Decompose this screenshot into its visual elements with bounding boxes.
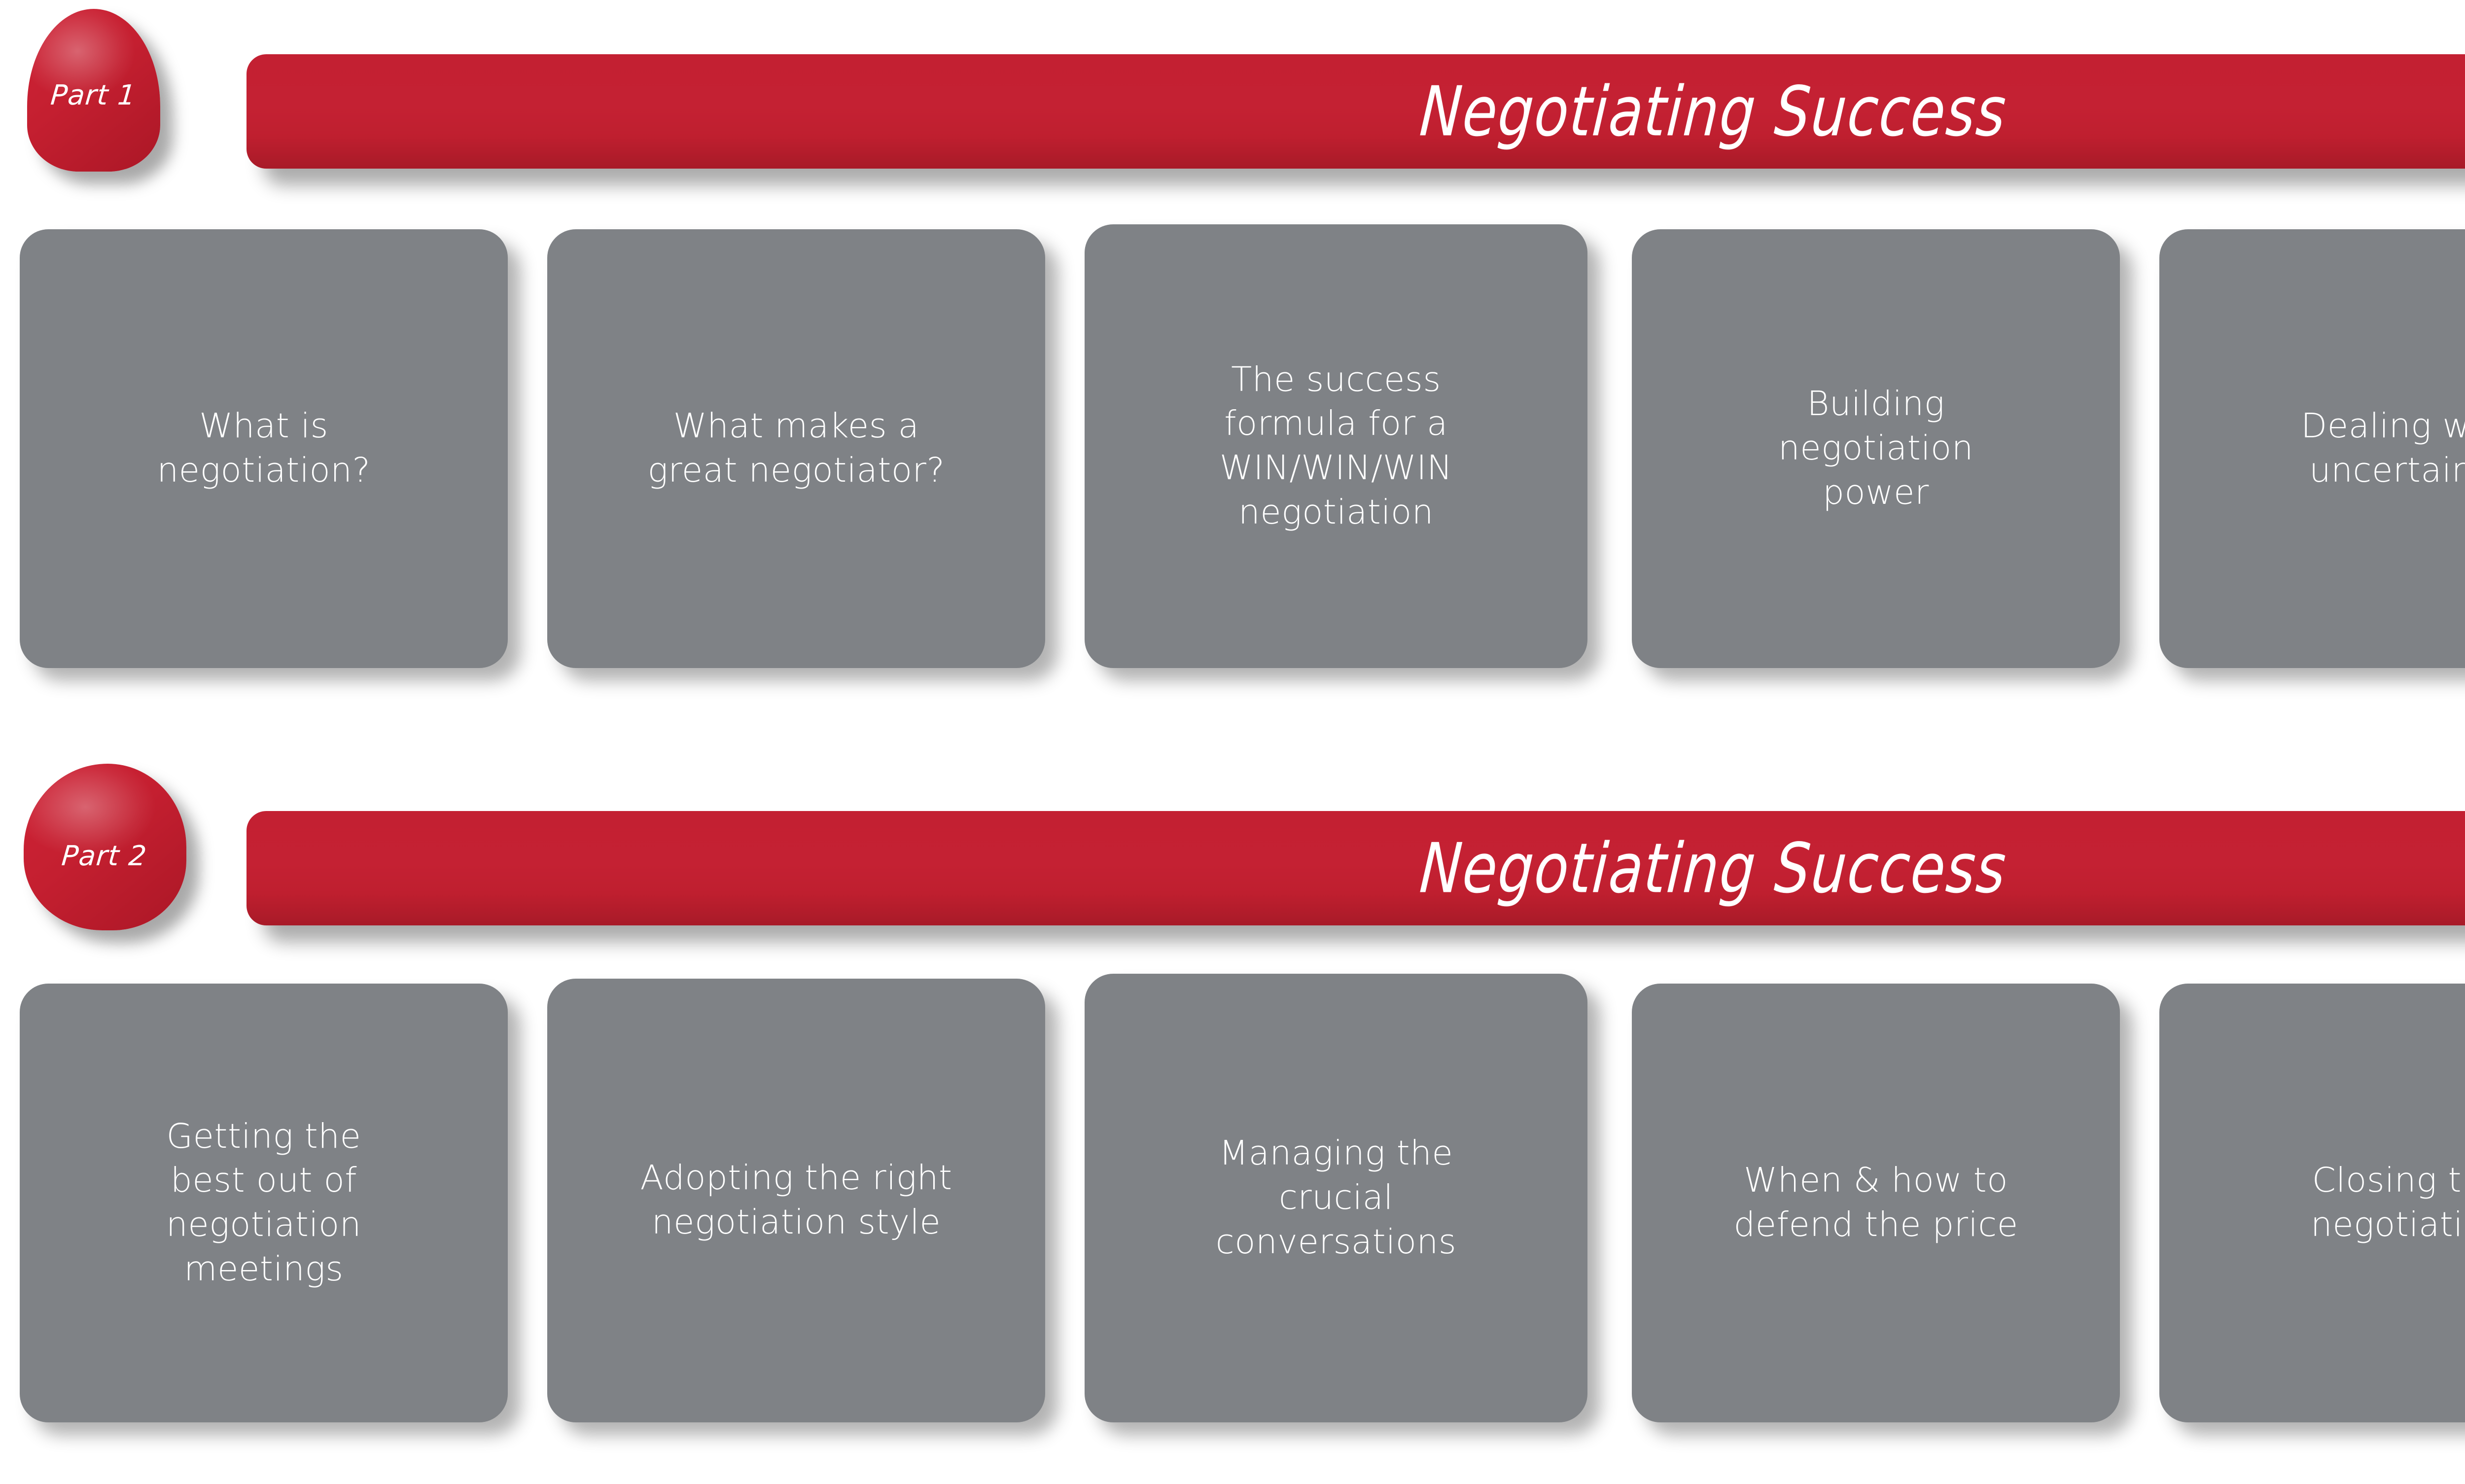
topic-card-label: Dealing with uncertainty [2288,404,2465,493]
topic-card[interactable]: Adopting the right negotiation style [547,979,1045,1422]
banner-title-text: Negotiating Success [1417,828,2009,909]
section-part-2: Negotiating Success Part 2 Getting the b… [0,757,2465,1484]
topic-card[interactable]: When & how to defend the price [1632,984,2120,1422]
topic-card[interactable]: Getting the best out of negotiation meet… [20,984,508,1422]
part-badge-label: Part 2 [16,773,193,939]
topic-card-label: What makes a great negotiator? [634,404,957,493]
part-badge-label: Part 1 [20,14,167,177]
topic-card-label: The success formula for a WIN/WIN/WIN ne… [1207,358,1466,535]
topic-card-row: What is negotiation? What makes a great … [0,229,2465,678]
topic-card[interactable]: Closing the negotiation [2159,984,2465,1422]
part-badge: Part 1 [27,9,160,172]
topic-card[interactable]: The success formula for a WIN/WIN/WIN ne… [1085,224,1587,668]
topic-card[interactable]: What makes a great negotiator? [547,229,1045,668]
topic-card-label: What is negotiation? [144,404,383,493]
topic-card-label: Adopting the right negotiation style [628,1156,965,1244]
slide-canvas: Negotiating Success Part 1 What is negot… [0,0,2465,1484]
banner-part-1: Negotiating Success Part 1 [0,0,2465,197]
topic-card-label: Managing the crucial conversations [1203,1131,1469,1264]
topic-card[interactable]: Dealing with uncertainty [2159,229,2465,668]
topic-card[interactable]: Managing the crucial conversations [1085,974,1587,1422]
topic-card-label: Getting the best out of negotiation meet… [153,1115,374,1292]
topic-card-label: When & how to defend the price [1721,1159,2031,1247]
banner-title: Negotiating Success [243,54,2465,169]
banner-part-2: Negotiating Success Part 2 [0,757,2465,954]
banner-title-text: Negotiating Success [1417,71,2009,152]
banner-title: Negotiating Success [243,811,2465,925]
topic-card-row: Getting the best out of negotiation meet… [0,984,2465,1432]
topic-card-label: Building negotiation power [1765,382,1986,515]
section-part-1: Negotiating Success Part 1 What is negot… [0,0,2465,730]
topic-card[interactable]: Building negotiation power [1632,229,2120,668]
part-badge: Part 2 [24,764,186,930]
topic-card[interactable]: What is negotiation? [20,229,508,668]
topic-card-label: Closing the negotiation [2298,1159,2465,1247]
